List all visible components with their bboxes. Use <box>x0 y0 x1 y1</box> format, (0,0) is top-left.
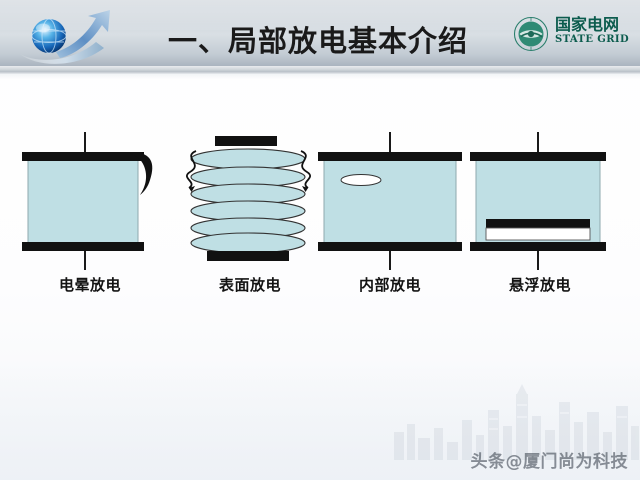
corona-discharge-diagram <box>10 132 170 272</box>
page-title: 一、局部放电基本介绍 <box>168 18 498 64</box>
diagram-label-surface: 表面放电 <box>170 274 330 295</box>
diagram-internal: 内部放电 <box>310 132 470 312</box>
surface-discharge-diagram <box>170 132 330 272</box>
state-grid-name-en: STATE GRID <box>555 34 631 46</box>
watermark-text: 头条@厦门尚为科技 <box>471 447 629 472</box>
floating-discharge-diagram <box>460 132 620 272</box>
state-grid-wordmark: 国家电网 STATE GRID <box>555 15 631 46</box>
state-grid-emblem-icon <box>513 16 549 52</box>
header-divider <box>0 66 640 74</box>
state-grid-logo: 国家电网 STATE GRID <box>513 14 631 56</box>
globe-arrow-logo <box>12 8 122 66</box>
slide: 一、局部放电基本介绍 国家电网 STATE GRID <box>0 0 640 480</box>
diagram-label-floating: 悬浮放电 <box>460 274 620 295</box>
internal-discharge-diagram <box>310 132 470 272</box>
state-grid-name-cn: 国家电网 <box>555 15 631 34</box>
diagram-corona: 电晕放电 <box>10 132 170 312</box>
slide-header: 一、局部放电基本介绍 国家电网 STATE GRID <box>0 0 640 66</box>
diagram-surface: 表面放电 <box>170 132 330 312</box>
diagram-floating: 悬浮放电 <box>460 132 620 312</box>
header-divider-highlight <box>0 74 640 80</box>
diagram-label-corona: 电晕放电 <box>10 274 170 295</box>
discharge-type-diagrams: 电晕放电 <box>0 132 640 312</box>
diagram-label-internal: 内部放电 <box>310 274 470 295</box>
